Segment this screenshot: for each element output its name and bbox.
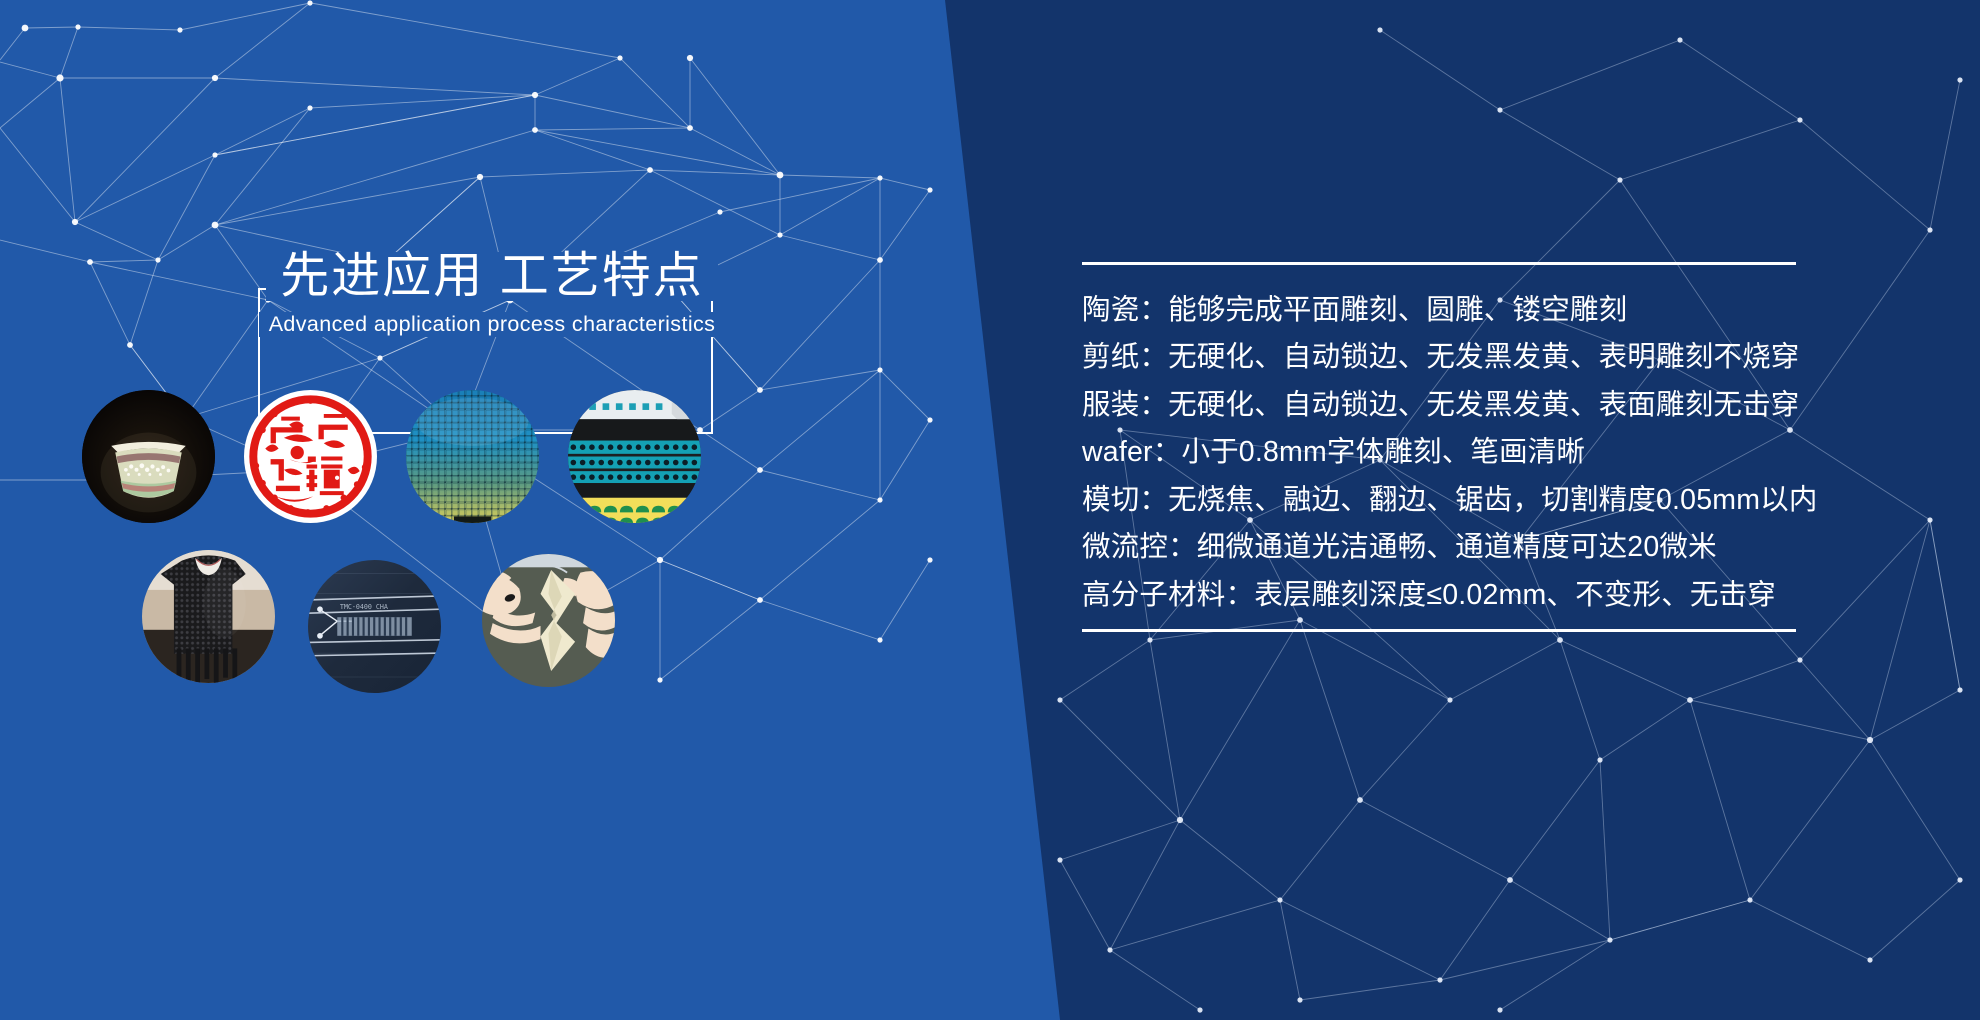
feature-item: wafer：小于0.8mm字体雕刻、笔画清晰 (1082, 429, 1822, 477)
feature-item: 剪纸：无硬化、自动锁边、无发黑发黄、表明雕刻不烧穿 (1082, 334, 1822, 382)
perforated-garment-icon (142, 550, 275, 683)
ceramic-bowl-icon (82, 390, 215, 523)
gallery-image-silicon-wafer[interactable] (406, 390, 539, 523)
gallery-image-polymer-sheet[interactable] (482, 554, 615, 687)
feature-list: 陶瓷：能够完成平面雕刻、圆雕、镂空雕刻 剪纸：无硬化、自动锁边、无发黑发黄、表明… (1082, 262, 1822, 632)
gallery-image-die-cut-film[interactable] (568, 390, 701, 523)
feature-items: 陶瓷：能够完成平面雕刻、圆雕、镂空雕刻 剪纸：无硬化、自动锁边、无发黑发黄、表明… (1082, 286, 1822, 619)
feature-item: 模切：无烧焦、融边、翻边、锯齿，切割精度0.05mm以内 (1082, 476, 1822, 524)
page-subtitle: Advanced application process characteris… (232, 312, 752, 337)
feature-item: 高分子材料：表层雕刻深度≤0.02mm、不变形、无击穿 (1082, 571, 1822, 619)
gallery-image-perforated-garment[interactable] (142, 550, 275, 683)
feature-item: 微流控：细微通道光洁通畅、通道精度可达20微米 (1082, 524, 1822, 572)
paper-cut-fu-icon (244, 390, 377, 523)
microfluidic-chip-icon: TMC-0400 CHA (308, 560, 441, 693)
feature-item: 服装：无硬化、自动锁边、无发黑发黄、表面雕刻无击穿 (1082, 381, 1822, 429)
die-cut-film-icon (568, 390, 701, 523)
divider-top (1082, 262, 1796, 265)
polymer-sheet-icon (482, 554, 615, 687)
page-subtitle-text: Advanced application process characteris… (259, 312, 726, 337)
gallery-image-paper-cut-fu[interactable] (244, 390, 377, 523)
page-title-text: 先进应用 工艺特点 (266, 252, 718, 301)
feature-item: 陶瓷：能够完成平面雕刻、圆雕、镂空雕刻 (1082, 286, 1822, 334)
divider-bottom (1082, 629, 1796, 632)
page-title: 先进应用 工艺特点 (232, 252, 752, 301)
gallery-image-ceramic-bowl[interactable] (82, 390, 215, 523)
silicon-wafer-icon (406, 390, 539, 523)
svg-text:TMC-0400 CHA: TMC-0400 CHA (340, 603, 388, 611)
gallery-image-microfluidic-chip[interactable]: TMC-0400 CHA (308, 560, 441, 693)
slide-canvas: 先进应用 工艺特点 Advanced application process c… (0, 0, 1980, 1020)
